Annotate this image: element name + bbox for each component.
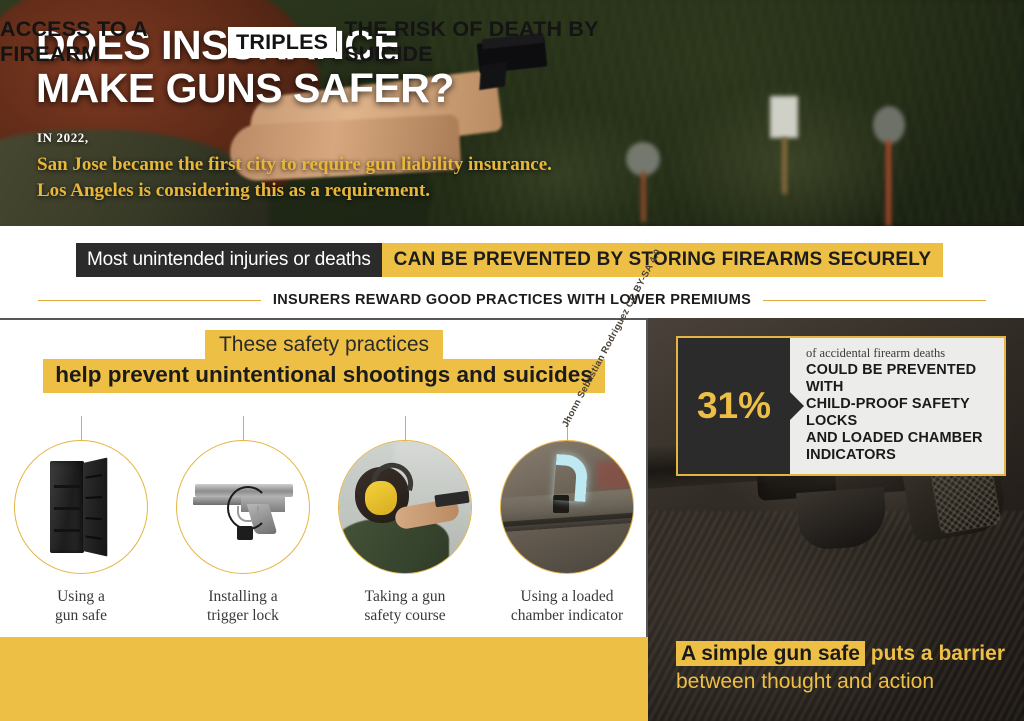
list-item: Installing a trigger lock <box>167 416 319 625</box>
label-line2: trigger lock <box>207 606 279 625</box>
safe-door-rib <box>86 535 103 540</box>
lock-cable <box>227 486 269 530</box>
padlock-body <box>237 526 253 540</box>
prevention-banner-dark: Most unintended injuries or deaths <box>76 243 382 277</box>
shooter-photo-illustration <box>339 441 471 573</box>
label-line2: safety course <box>364 606 445 625</box>
gun-safe-message-line1: A simple gun safe puts a barrier <box>676 641 1006 667</box>
gun-safe-message: A simple gun safe puts a barrier between… <box>676 641 1006 695</box>
hero-kicker: IN 2022, <box>37 130 89 146</box>
infographic-page: DOES INSURANCE MAKE GUNS SAFER? IN 2022,… <box>0 0 1024 721</box>
practices-heading: These safety practices help prevent unin… <box>0 330 648 393</box>
label-line1: Using a <box>55 587 107 606</box>
stat-line1: COULD BE PREVENTED WITH <box>806 362 994 396</box>
gun-safe-illustration <box>50 461 112 553</box>
stat-percentage: 31% <box>678 338 790 474</box>
stat-line3: AND LOADED CHAMBER <box>806 430 994 447</box>
safe-shelf <box>54 507 80 510</box>
stat-description: of accidental firearm deaths COULD BE PR… <box>790 338 1004 474</box>
suicide-banner-emphasis: TRIPLES <box>228 27 336 58</box>
pistol-with-trigger-lock-illustration <box>189 474 297 540</box>
insurers-rule-row: INSURERS REWARD GOOD PRACTICES WITH LOWE… <box>38 292 986 308</box>
list-item-label: Using a gun safe <box>55 587 107 625</box>
trigger-lock-icon <box>176 440 310 574</box>
hero-target-plate-left-post <box>641 172 646 222</box>
list-item-label: Installing a trigger lock <box>207 587 279 625</box>
rule-line-right <box>763 300 986 301</box>
indicator-flag <box>553 454 588 502</box>
label-line1: Taking a gun <box>364 587 445 606</box>
loaded-chamber-indicator-icon <box>500 440 634 574</box>
list-item: Using a gun safe <box>5 416 157 625</box>
connector-stem <box>405 416 406 440</box>
list-item-label: Taking a gun safety course <box>364 587 445 625</box>
insurers-reward-text: INSURERS REWARD GOOD PRACTICES WITH LOWE… <box>273 292 751 308</box>
label-line2: chamber indicator <box>511 606 623 625</box>
suicide-risk-banner <box>0 637 648 721</box>
label-line1: Installing a <box>207 587 279 606</box>
chamber-indicator-illustration <box>501 441 633 573</box>
gun-safe-icon <box>14 440 148 574</box>
list-item: Taking a gun safety course <box>329 416 481 625</box>
practices-circle-list: Using a gun safe <box>0 416 648 586</box>
banner-strip: Most unintended injuries or deaths CAN B… <box>0 226 1024 318</box>
stat-main-text: COULD BE PREVENTED WITH CHILD-PROOF SAFE… <box>806 362 994 464</box>
list-item-label: Using a loaded chamber indicator <box>511 587 623 625</box>
suicide-banner-suffix: THE RISK OF DEATH BY SUICIDE <box>344 17 648 67</box>
hero-target-plate-left <box>626 142 660 176</box>
gun-safe-message-line2: between thought and action <box>676 669 1006 695</box>
gun-safe-rest: puts a barrier <box>865 642 1005 665</box>
hero-target-plate-right-post <box>886 140 891 226</box>
prevention-banner-yellow: CAN BE PREVENTED BY STORING FIREARMS SEC… <box>382 243 944 277</box>
safety-practices-panel: These safety practices help prevent unin… <box>0 318 648 637</box>
hero-lede: San Jose became the first city to requir… <box>37 152 552 204</box>
stat-line4: INDICATORS <box>806 447 994 464</box>
hero-target-paper <box>770 96 798 138</box>
stat-subhead: of accidental firearm deaths <box>806 346 994 361</box>
rule-line-left <box>38 300 261 301</box>
status-badge: 31% of accidental firearm deaths COULD B… <box>676 336 1006 476</box>
suicide-risk-banner-text: ACCESS TO A FIREARM TRIPLES THE RISK OF … <box>0 0 648 84</box>
hero-lede-line2: Los Angeles is considering this as a req… <box>37 178 552 204</box>
connector-stem <box>243 416 244 440</box>
hero-target-paper-post <box>782 138 787 194</box>
hero-target-plate-right <box>873 106 905 144</box>
safe-door <box>83 457 107 556</box>
hero-lede-line1: San Jose became the first city to requir… <box>37 152 552 178</box>
gun-safety-course-icon <box>338 440 472 574</box>
list-item: Using a loaded chamber indicator <box>491 416 643 625</box>
ear-muff-cup <box>365 481 397 515</box>
safe-door-rib <box>86 474 103 479</box>
label-line2: gun safe <box>55 606 107 625</box>
gun-safe-highlight: A simple gun safe <box>676 641 865 666</box>
suicide-banner-prefix: ACCESS TO A FIREARM <box>0 17 220 67</box>
stat-line2: CHILD-PROOF SAFETY LOCKS <box>806 396 994 430</box>
safe-shelf <box>54 529 80 532</box>
revolver-stat-panel: CAL. .38 SPECIAL 31% of accidental firea… <box>648 318 1024 721</box>
shooter-body <box>338 519 449 574</box>
practices-heading-top: These safety practices <box>205 330 443 359</box>
prevention-banner: Most unintended injuries or deaths CAN B… <box>76 243 943 277</box>
connector-stem <box>81 416 82 440</box>
background-blur-accent <box>597 461 631 489</box>
safe-door-rib <box>86 496 103 499</box>
practices-heading-bottom: help prevent unintentional shootings and… <box>43 359 605 393</box>
safe-door-rib <box>86 517 103 520</box>
safe-shelf <box>54 485 80 488</box>
label-line1: Using a loaded <box>511 587 623 606</box>
